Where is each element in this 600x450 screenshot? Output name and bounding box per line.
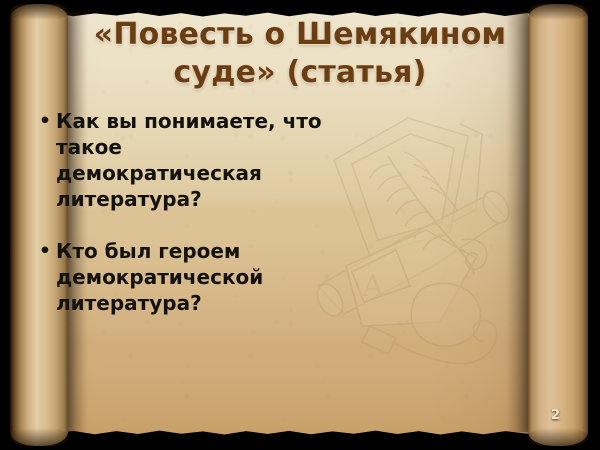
question-list: • Как вы понимаете, что такое демократич… xyxy=(34,108,334,316)
bullet-dot-icon: • xyxy=(34,238,56,264)
list-item: • Как вы понимаете, что такое демократич… xyxy=(34,108,334,212)
list-item: • Кто был героем демократической литерат… xyxy=(34,238,334,316)
list-item-text: Как вы понимаете, что такое демократичес… xyxy=(56,108,334,212)
page-title: «Повесть о Шемякином суде» (статья) xyxy=(60,16,540,92)
slide-canvas: A xyxy=(0,0,600,450)
bullet-dot-icon: • xyxy=(34,108,56,134)
title-line-1: «Повесть о Шемякином xyxy=(60,16,540,54)
slide-number: 2 xyxy=(551,408,560,424)
title-line-2: суде» (статья) xyxy=(60,54,540,92)
list-item-text: Кто был героем демократической литератур… xyxy=(56,238,334,316)
parchment-torn-bottom-edge xyxy=(30,427,570,439)
